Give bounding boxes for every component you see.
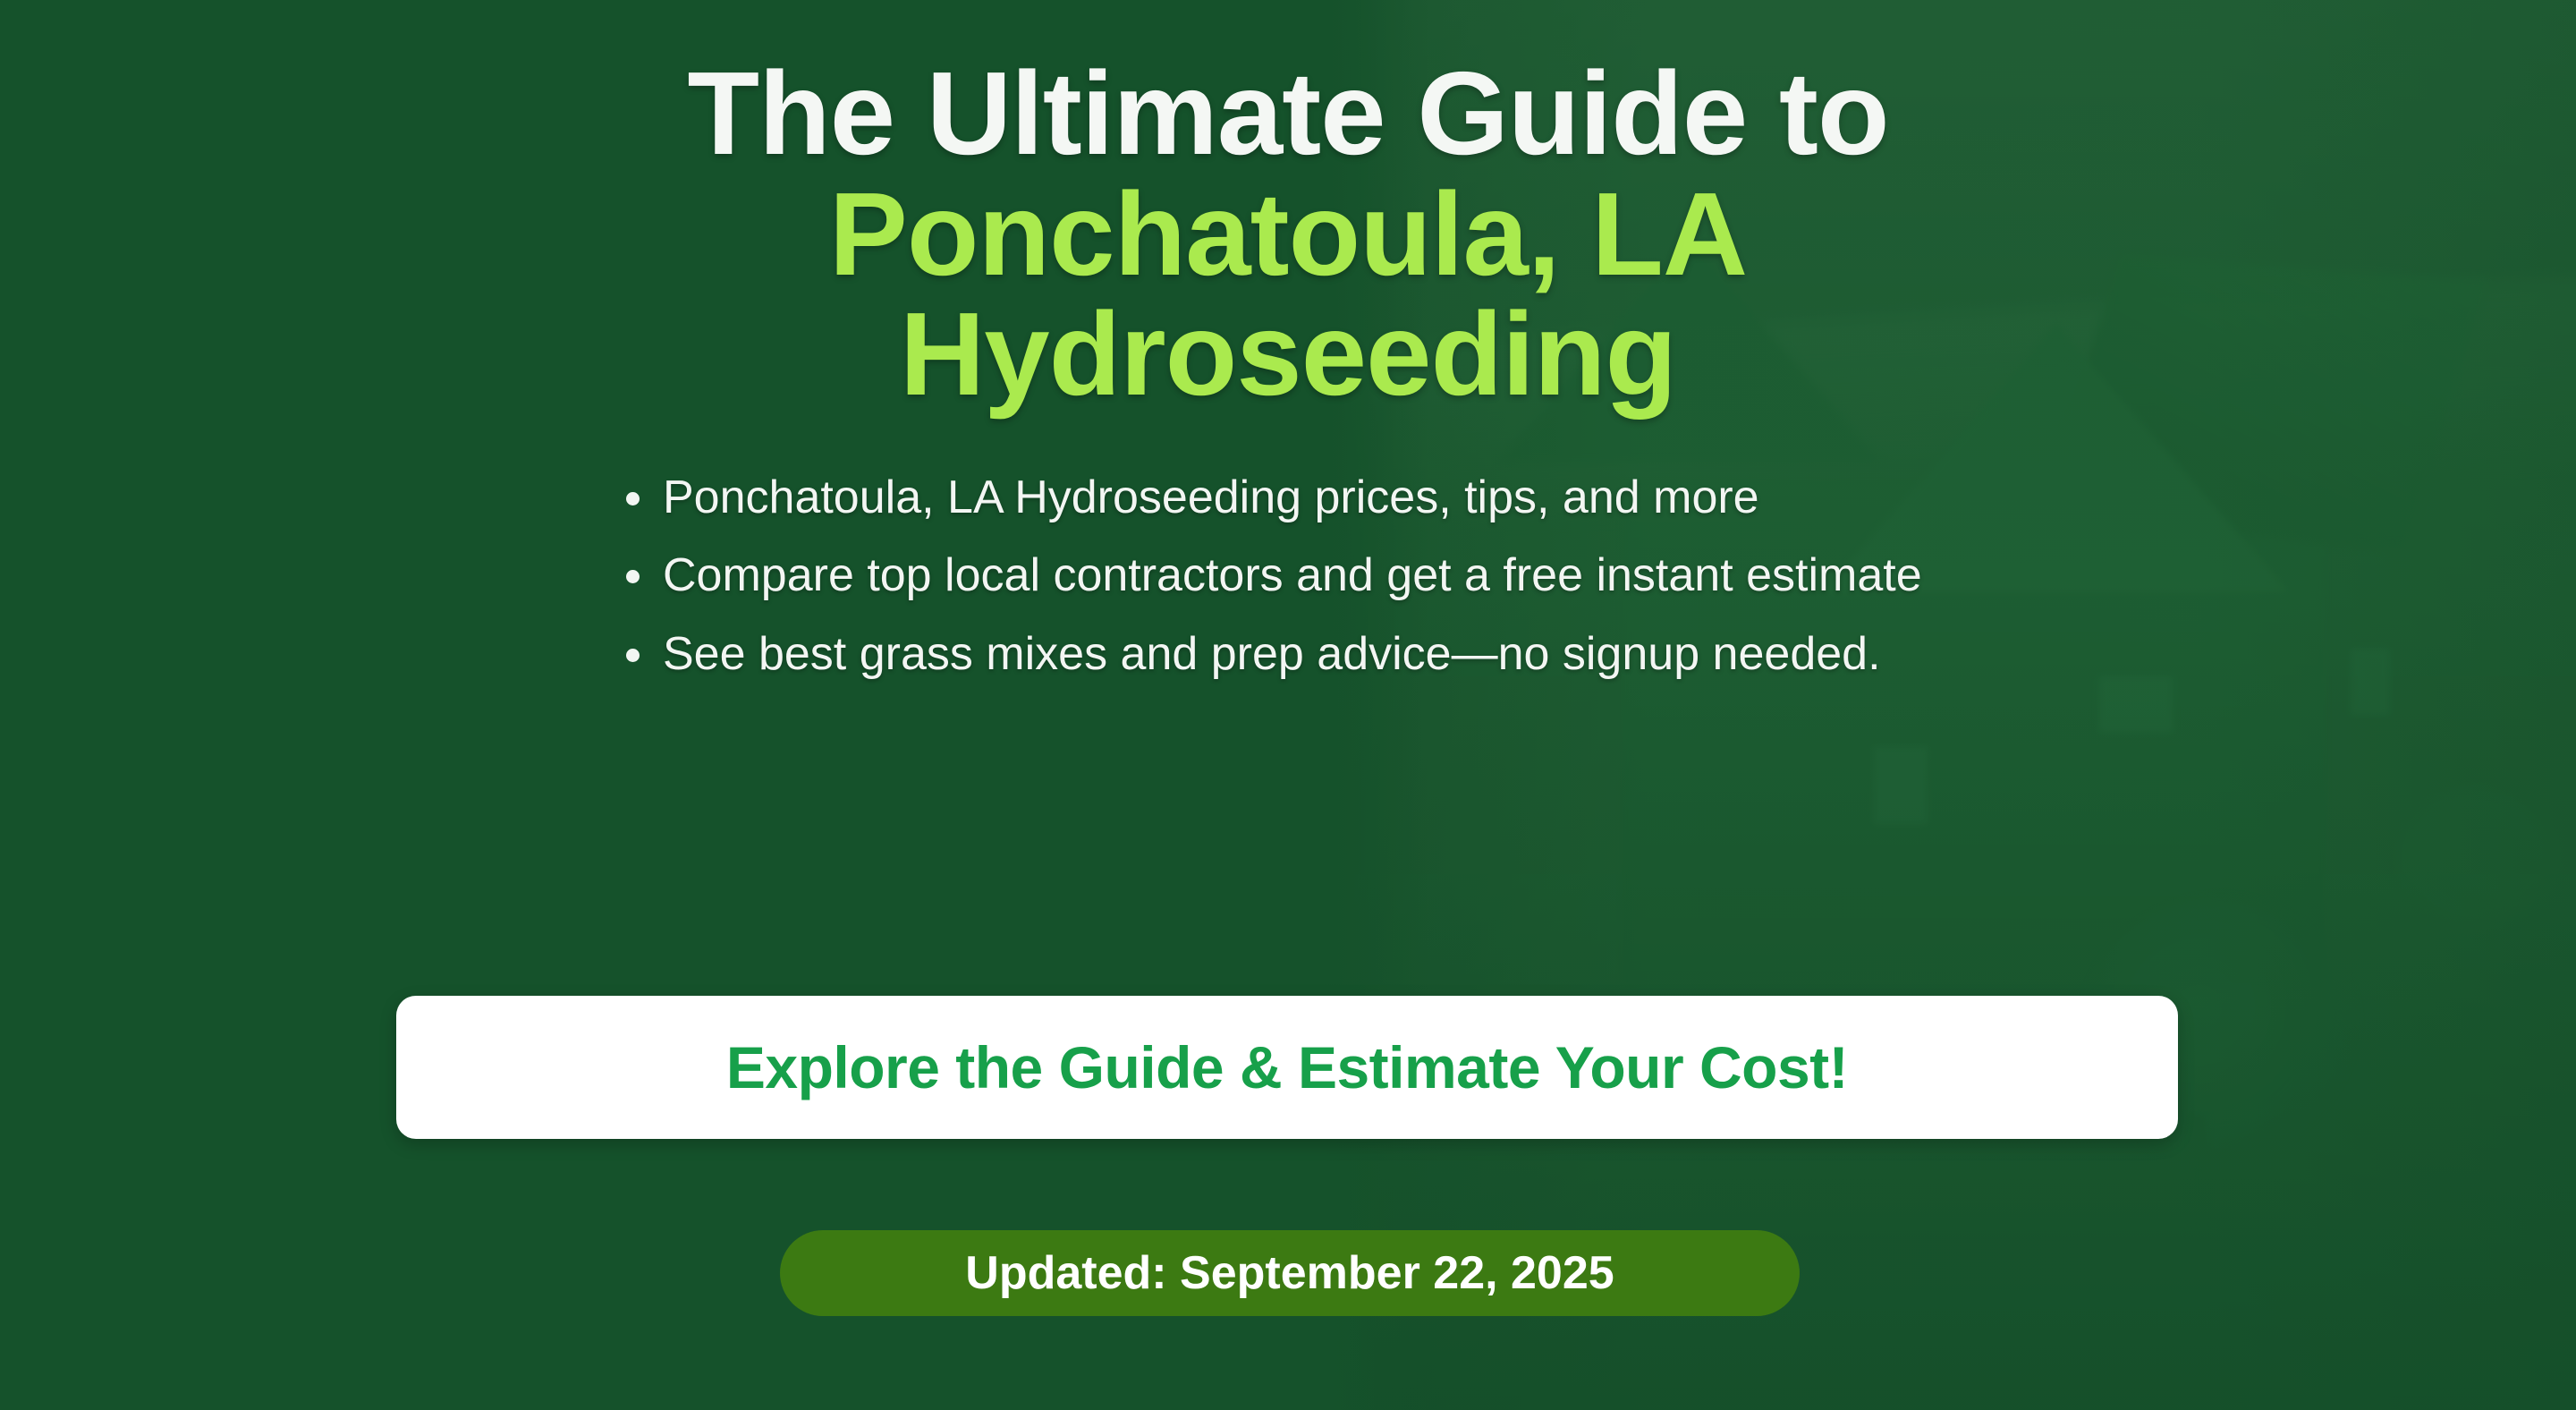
explore-guide-cta-button[interactable]: Explore the Guide & Estimate Your Cost! [396,996,2178,1139]
list-item-label: See best grass mixes and prep advice—no … [663,627,1881,681]
page-title: The Ultimate Guide to Ponchatoula, LA Hy… [322,54,2254,415]
bullet-dot-icon [626,570,640,583]
bullet-dot-icon [626,649,640,662]
headline-line-3: Hydroseeding [322,294,2254,415]
cta-button-label: Explore the Guide & Estimate Your Cost! [726,1033,1848,1101]
list-item-label: Compare top local contractors and get a … [663,548,1922,602]
headline-line-2: Ponchatoula, LA [322,174,2254,295]
bullet-dot-icon [626,492,640,505]
list-item: Compare top local contractors and get a … [626,548,2272,602]
last-updated-label: Updated: September 22, 2025 [965,1246,1614,1300]
last-updated-badge: Updated: September 22, 2025 [780,1230,1800,1316]
hero-banner: The Ultimate Guide to Ponchatoula, LA Hy… [0,0,2576,1410]
list-item: Ponchatoula, LA Hydroseeding prices, tip… [626,471,2272,524]
list-item: See best grass mixes and prep advice—no … [626,627,2272,681]
list-item-label: Ponchatoula, LA Hydroseeding prices, tip… [663,471,1759,524]
benefits-list: Ponchatoula, LA Hydroseeding prices, tip… [304,471,2272,681]
hero-content: The Ultimate Guide to Ponchatoula, LA Hy… [0,0,2576,1410]
headline-line-1: The Ultimate Guide to [322,54,2254,174]
